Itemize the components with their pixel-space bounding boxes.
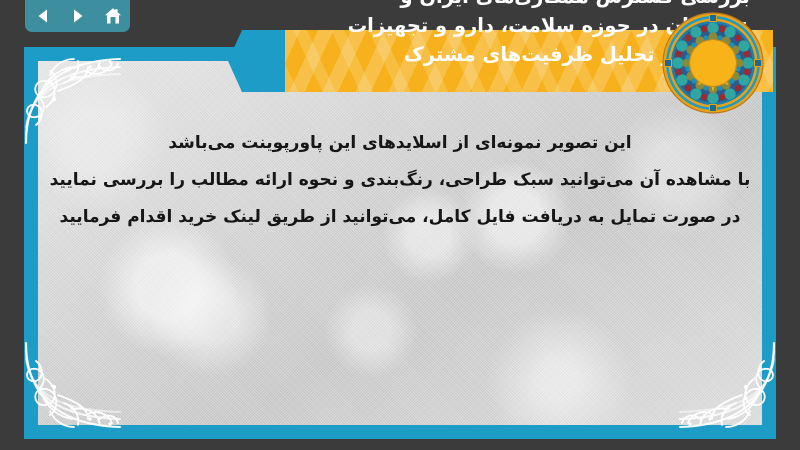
slide-body-text: این تصویر نمونه‌ای از اسلایدهای این پاور…: [45, 125, 755, 236]
next-slide-button[interactable]: [65, 4, 91, 28]
persian-medallion-icon: [662, 12, 764, 114]
triangle-left-icon: [34, 7, 52, 25]
body-line: این تصویر نمونه‌ای از اسلایدهای این پاور…: [45, 125, 755, 162]
home-icon: [103, 7, 123, 26]
slide-content-background: [38, 61, 762, 425]
body-line: در صورت تمایل به دریافت فایل کامل، می‌تو…: [45, 199, 755, 236]
previous-slide-button[interactable]: [30, 4, 56, 28]
triangle-right-icon: [69, 7, 87, 25]
slide-navigation-bar: [25, 0, 130, 32]
slide-viewer: بررسی گسترش همکاری‌های ایران و عربستان د…: [0, 0, 800, 450]
home-button[interactable]: [100, 4, 126, 28]
body-line: با مشاهده آن می‌توانید سبک طراحی، رنگ‌بن…: [45, 162, 755, 199]
